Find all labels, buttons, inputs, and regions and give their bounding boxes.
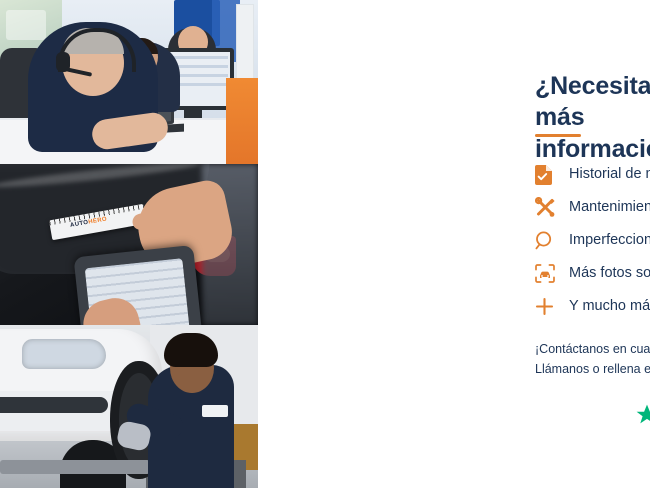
page-title: ¿Necesitas más información? bbox=[535, 71, 650, 166]
photo-call-center-agents-with-headsets bbox=[0, 0, 258, 164]
content-column: ¿Necesitas más información? Estamos enca… bbox=[258, 0, 650, 488]
photo-car-inspection-ruler-tablet: AUTOHERO bbox=[0, 164, 258, 325]
trustpilot-star-icon bbox=[636, 404, 650, 425]
feature-label: Mantenimiento realizado bbox=[569, 200, 650, 215]
feature-label: Y mucho más bbox=[569, 299, 650, 314]
trustpilot-rating: Trustpilot Excelente EMPRESA VERIFICADA bbox=[636, 388, 650, 444]
tools-cross-icon bbox=[535, 197, 569, 219]
contact-text: ¡Contáctanos en cualquier momento para m… bbox=[535, 339, 650, 380]
feature-list: Historial de mantenimientos Mantenimient… bbox=[535, 158, 650, 323]
feature-row-imperfections: Imperfecciones bbox=[535, 224, 650, 257]
feature-row-maintenance-history: Historial de mantenimientos bbox=[535, 158, 650, 191]
photo-column: AUTOHERO bbox=[0, 0, 258, 488]
feature-row-maintenance-done: Mantenimiento realizado bbox=[535, 191, 650, 224]
trustpilot-logo: Trustpilot bbox=[636, 402, 650, 426]
promo-card: AUTOHERO ¿Necesitas más in bbox=[0, 0, 650, 488]
feature-label: Historial de mantenimientos bbox=[569, 167, 650, 182]
document-check-icon bbox=[535, 164, 569, 186]
magnifier-icon bbox=[535, 230, 569, 252]
title-underline-divider bbox=[535, 134, 581, 137]
feature-label: Más fotos sobre el coche bbox=[569, 266, 650, 281]
photo-mechanic-inspecting-wheel bbox=[0, 325, 258, 488]
feature-row-more-photos: Más fotos sobre el coche bbox=[535, 257, 650, 290]
car-scan-icon bbox=[535, 263, 569, 285]
feature-label: Imperfecciones bbox=[569, 233, 650, 248]
feature-row-much-more: Y mucho más bbox=[535, 290, 650, 323]
plus-icon bbox=[535, 296, 569, 318]
